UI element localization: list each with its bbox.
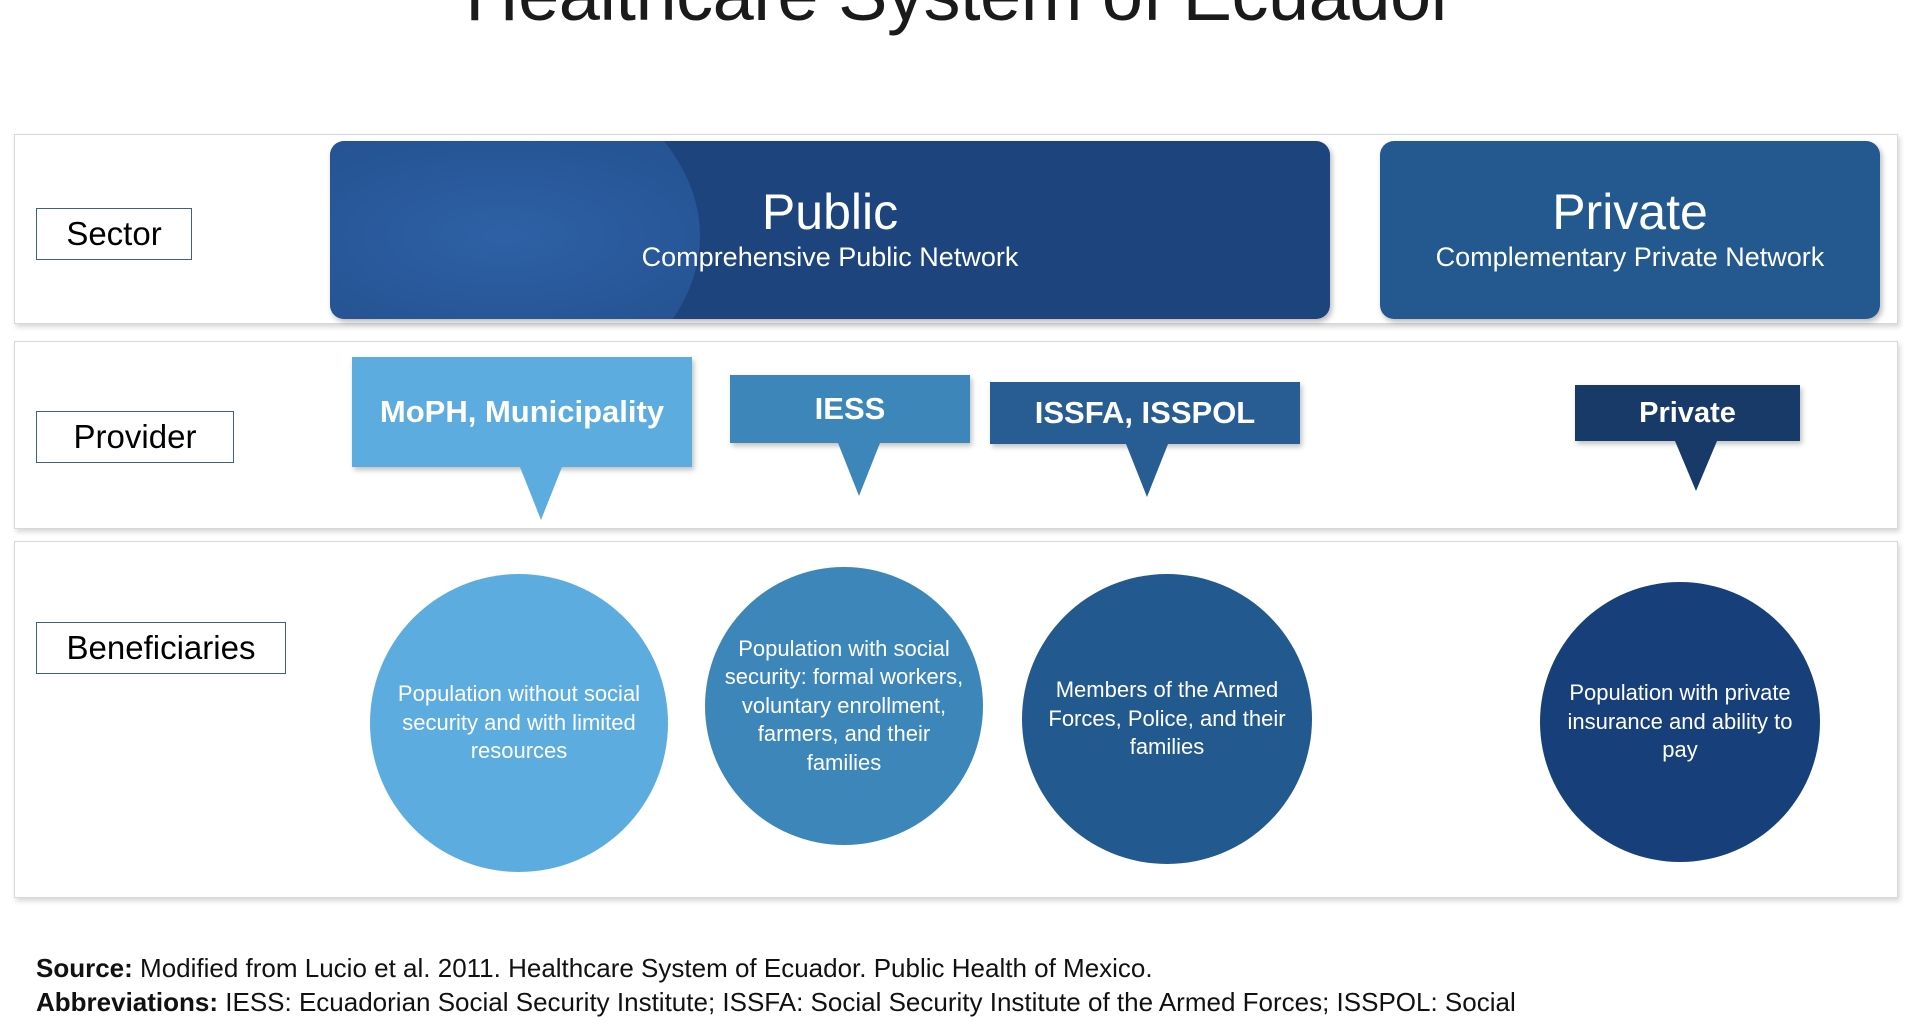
- footnote-source-key: Source:: [36, 953, 133, 983]
- sector-box-public-subtitle: Comprehensive Public Network: [642, 242, 1019, 274]
- page-title: Healthcare System of Ecuador: [0, 0, 1920, 37]
- sector-box-public[interactable]: Public Comprehensive Public Network: [330, 141, 1330, 319]
- callout-tail-icon: [1675, 441, 1717, 491]
- row-label-beneficiaries-text: Beneficiaries: [67, 629, 256, 667]
- row-label-provider: Provider: [36, 411, 234, 463]
- provider-callout-private-label: Private: [1575, 385, 1800, 441]
- sector-box-public-title: Public: [762, 186, 898, 239]
- row-label-provider-text: Provider: [74, 418, 197, 456]
- footnote-abbreviations-key: Abbreviations:: [36, 987, 218, 1017]
- beneficiary-circle-issfa[interactable]: Members of the Armed Forces, Police, and…: [1022, 574, 1312, 864]
- provider-callout-iess[interactable]: IESS: [730, 375, 970, 443]
- footnote-abbreviations-text: IESS: Ecuadorian Social Security Institu…: [218, 987, 1516, 1017]
- footnote: Source: Modified from Lucio et al. 2011.…: [36, 952, 1906, 1020]
- beneficiary-circle-moph[interactable]: Population without social security and w…: [370, 574, 668, 872]
- provider-callout-issfa-label: ISSFA, ISSPOL: [990, 382, 1300, 444]
- row-label-sector-text: Sector: [66, 215, 161, 253]
- provider-callout-issfa[interactable]: ISSFA, ISSPOL: [990, 382, 1300, 444]
- footnote-source-line: Source: Modified from Lucio et al. 2011.…: [36, 952, 1906, 986]
- provider-callout-private[interactable]: Private: [1575, 385, 1800, 441]
- beneficiary-circle-private[interactable]: Population with private insurance and ab…: [1540, 582, 1820, 862]
- provider-callout-moph[interactable]: MoPH, Municipality: [352, 357, 692, 467]
- footnote-abbreviations-line: Abbreviations: IESS: Ecuadorian Social S…: [36, 986, 1906, 1020]
- sector-box-private-subtitle: Complementary Private Network: [1436, 242, 1825, 274]
- row-label-beneficiaries: Beneficiaries: [36, 622, 286, 674]
- provider-callout-moph-label: MoPH, Municipality: [352, 357, 692, 467]
- footnote-source-text: Modified from Lucio et al. 2011. Healthc…: [133, 953, 1153, 983]
- sector-box-private[interactable]: Private Complementary Private Network: [1380, 141, 1880, 319]
- callout-tail-icon: [520, 467, 562, 520]
- sector-box-private-title: Private: [1552, 186, 1708, 239]
- provider-callout-iess-label: IESS: [730, 375, 970, 443]
- callout-tail-icon: [838, 443, 880, 496]
- slide-canvas: Healthcare System of Ecuador Sector Publ…: [0, 0, 1920, 1024]
- beneficiary-circle-iess[interactable]: Population with social security: formal …: [705, 567, 983, 845]
- callout-tail-icon: [1126, 444, 1168, 497]
- row-label-sector: Sector: [36, 208, 192, 260]
